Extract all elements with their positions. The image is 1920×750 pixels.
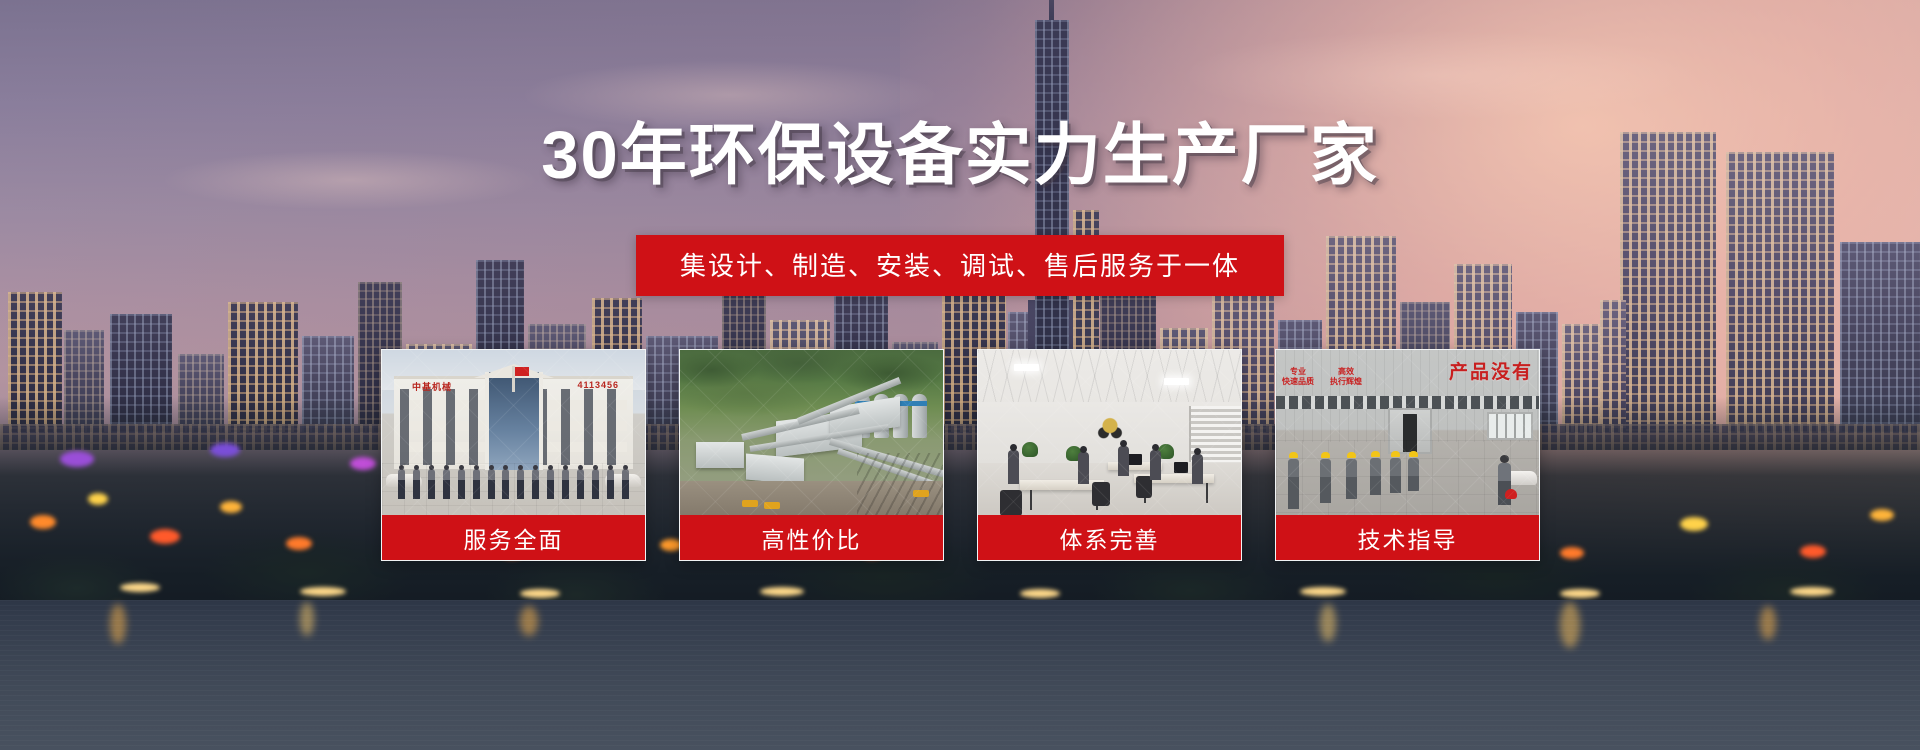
factory-wall-slogan-mid-line1: 高效	[1338, 367, 1354, 376]
subtitle-badge: 集设计、制造、安装、调试、售后服务于一体	[636, 235, 1284, 296]
flag-icon	[512, 366, 515, 392]
factory-wall-slogan-mid-line2: 执行辉煌	[1330, 377, 1362, 386]
feature-card[interactable]: 体系完善	[977, 349, 1242, 561]
feature-card-list: 中基机械 4113456 服务全面	[381, 349, 1540, 561]
worker	[1320, 459, 1331, 503]
red-helmet-icon	[1505, 489, 1517, 499]
subtitle-banner-wrapper: 集设计、制造、安装、调试、售后服务于一体	[0, 235, 1920, 296]
hero-banner: 30年环保设备实力生产厂家 集设计、制造、安装、调试、售后服务于一体 中基机械 …	[0, 0, 1920, 750]
feature-card[interactable]: 高性价比	[679, 349, 944, 561]
card-caption: 体系完善	[978, 515, 1241, 560]
worker	[1346, 459, 1357, 499]
worker	[1390, 458, 1401, 493]
worker	[1370, 458, 1381, 495]
factory-wall-slogan: 产品没有	[1449, 357, 1533, 384]
staff-row	[398, 469, 629, 499]
feature-card[interactable]: 产品没有 专业 快速品质 高效 执行辉煌	[1275, 349, 1540, 561]
worker	[1408, 458, 1419, 491]
card-caption: 服务全面	[382, 515, 645, 560]
building-phone-text: 4113456	[577, 380, 619, 390]
factory-wall-slogan-left-line2: 快速品质	[1282, 377, 1314, 386]
card-photo-aerial-view-industrial-plant	[680, 350, 943, 515]
card-photo-workers-in-hard-hats-at-factory: 产品没有 专业 快速品质 高效 执行辉煌	[1276, 350, 1539, 515]
wall-logo-icon	[1094, 416, 1126, 440]
card-photo-company-office-building-with-staff: 中基机械 4113456	[382, 350, 645, 515]
factory-wall-slogan-left-line1: 专业	[1290, 367, 1306, 376]
feature-card[interactable]: 中基机械 4113456 服务全面	[381, 349, 646, 561]
card-photo-office-interior-with-employees	[978, 350, 1241, 515]
card-caption: 高性价比	[680, 515, 943, 560]
building-sign-text: 中基机械	[412, 380, 452, 393]
card-caption: 技术指导	[1276, 515, 1539, 560]
worker	[1288, 459, 1299, 509]
river-water	[0, 600, 1920, 750]
page-title: 30年环保设备实力生产厂家	[0, 122, 1920, 189]
